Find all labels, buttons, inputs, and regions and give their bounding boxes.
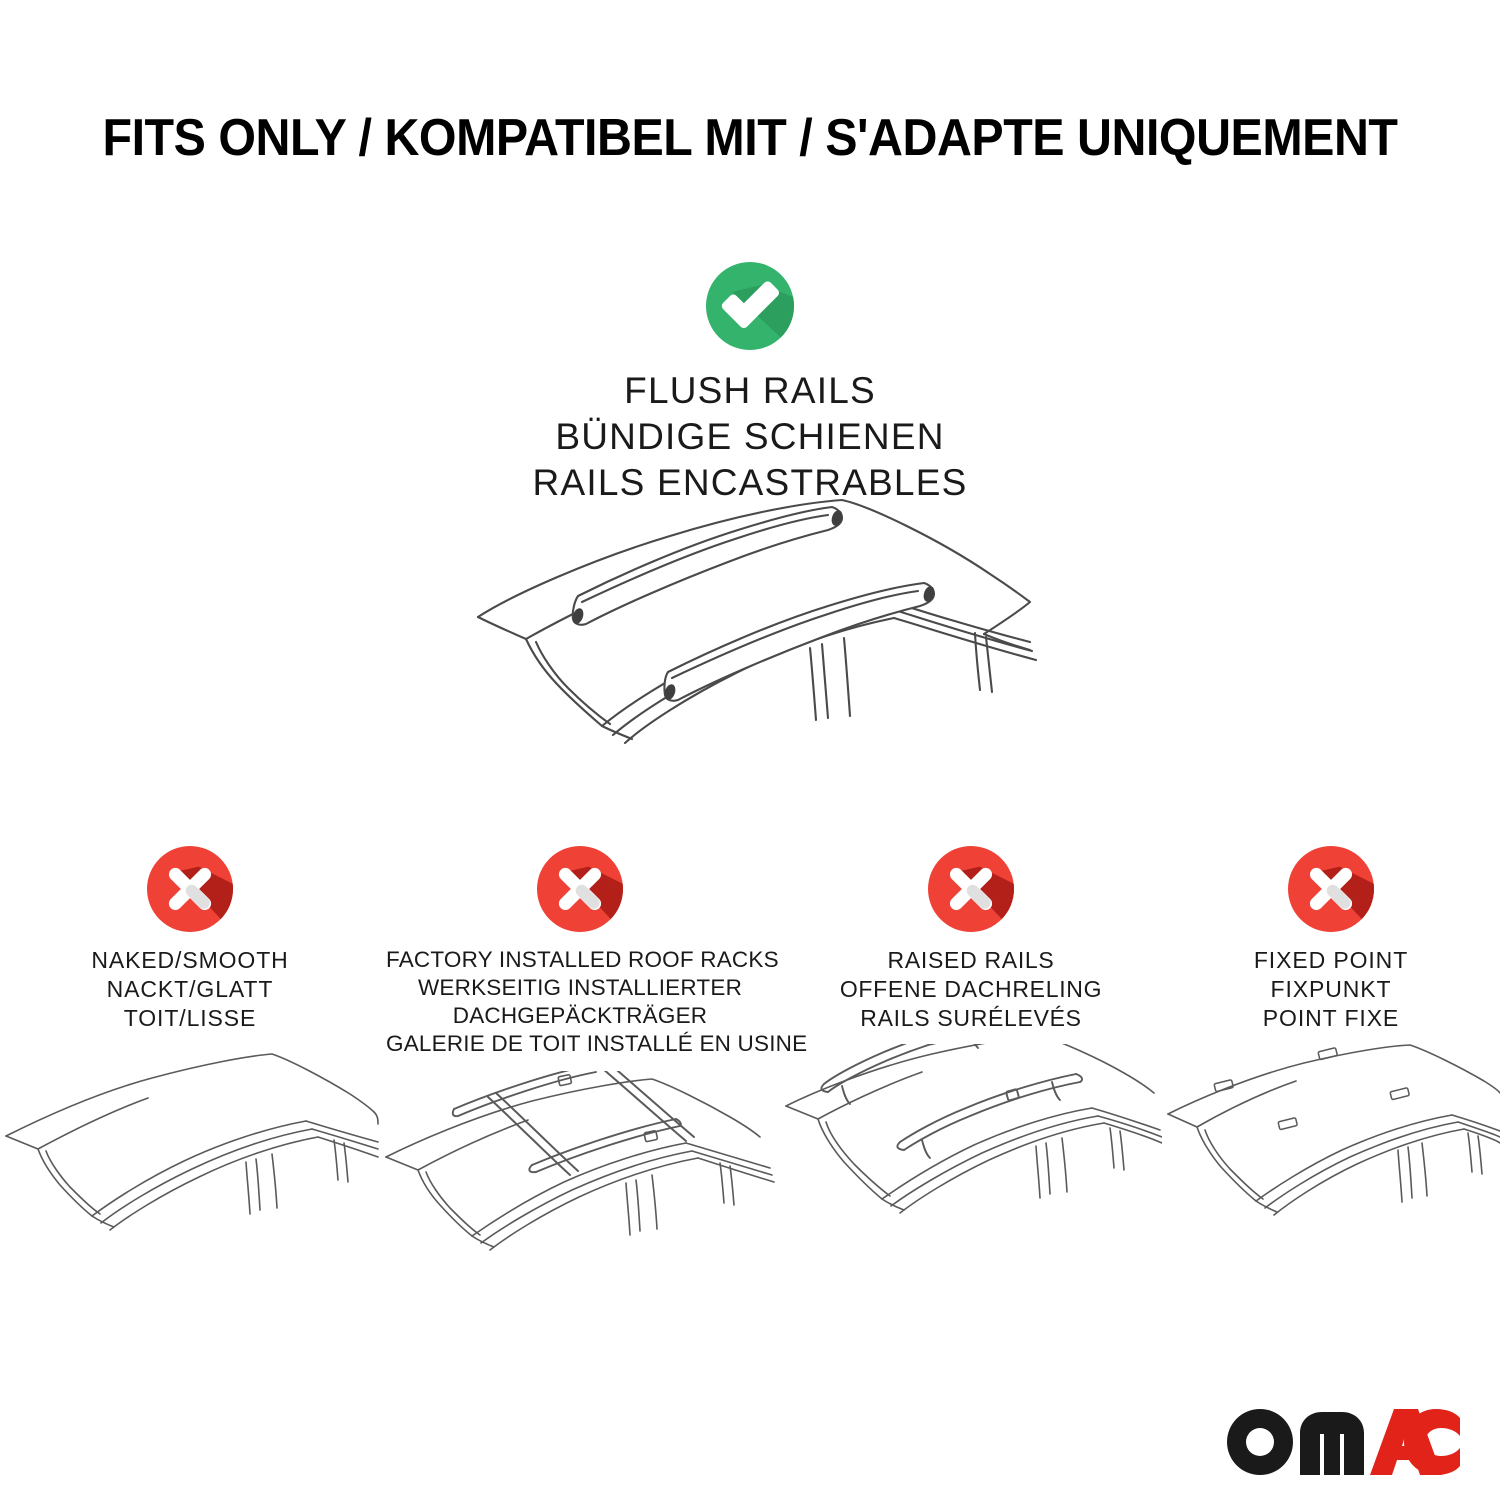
incompatible-item-factory-installed-roof-racks: FACTORY INSTALLED ROOF RACKS WERKSEITIG … [380,846,780,1301]
compatible-label-line-2: BÜNDIGE SCHIENEN [0,414,1500,460]
label-line-3: DACHGEPÄCKTRÄGER [386,1002,774,1030]
incompatible-section: NAKED/SMOOTH NACKT/GLATT TOIT/LISSE [0,846,1500,1301]
label-line-4: GALERIE DE TOIT INSTALLÉ EN USINE [386,1030,774,1058]
x-glyph-icon [1288,846,1374,932]
label-line-1: RAISED RAILS [786,946,1156,975]
red-x-circle-icon [147,846,233,932]
label-line-2: WERKSEITIG INSTALLIERTER [386,974,774,1002]
label-line-3: RAILS SURÉLEVÉS [786,1004,1156,1033]
car-roof-factory-racks-drawing [380,1071,780,1301]
page-title: FITS ONLY / KOMPATIBEL MIT / S'ADAPTE UN… [53,108,1448,168]
incompatible-label-raised-rails: RAISED RAILS OFFENE DACHRELING RAILS SUR… [780,946,1162,1032]
incompatible-item-naked-smooth: NAKED/SMOOTH NACKT/GLATT TOIT/LISSE [0,846,380,1274]
incompatible-label-factory-installed-roof-racks: FACTORY INSTALLED ROOF RACKS WERKSEITIG … [380,946,780,1059]
label-line-3: TOIT/LISSE [6,1004,374,1033]
incompatible-item-fixed-point: FIXED POINT FIXPUNKT POINT FIXE [1162,846,1500,1274]
x-glyph-icon [928,846,1014,932]
logo-letter-m [1300,1412,1364,1475]
incompatible-item-raised-rails: RAISED RAILS OFFENE DACHRELING RAILS SUR… [780,846,1162,1274]
label-line-3: POINT FIXE [1168,1004,1494,1033]
car-roof-flush-rails-drawing [470,492,1050,792]
car-roof-raised-rails-drawing [780,1044,1162,1274]
label-line-1: FIXED POINT [1168,946,1494,975]
label-line-2: OFFENE DACHRELING [786,975,1156,1004]
compatible-section: FLUSH RAILS BÜNDIGE SCHIENEN RAILS ENCAS… [0,262,1500,506]
logo-letter-o [1227,1409,1293,1475]
omac-logo [1224,1406,1460,1478]
x-glyph-icon [537,846,623,932]
car-roof-fixed-point-drawing [1162,1044,1500,1274]
label-line-2: FIXPUNKT [1168,975,1494,1004]
red-x-circle-icon [928,846,1014,932]
car-roof-naked-smooth-drawing [0,1044,380,1274]
red-x-circle-icon [537,846,623,932]
label-line-1: NAKED/SMOOTH [6,946,374,975]
incompatible-label-naked-smooth: NAKED/SMOOTH NACKT/GLATT TOIT/LISSE [0,946,380,1032]
compatible-label: FLUSH RAILS BÜNDIGE SCHIENEN RAILS ENCAS… [0,368,1500,506]
green-check-circle-icon [706,262,794,350]
check-glyph-icon [706,262,794,350]
compatible-label-line-1: FLUSH RAILS [0,368,1500,414]
label-line-2: NACKT/GLATT [6,975,374,1004]
red-x-circle-icon [1288,846,1374,932]
incompatible-label-fixed-point: FIXED POINT FIXPUNKT POINT FIXE [1162,946,1500,1032]
x-glyph-icon [147,846,233,932]
label-line-1: FACTORY INSTALLED ROOF RACKS [386,946,774,974]
